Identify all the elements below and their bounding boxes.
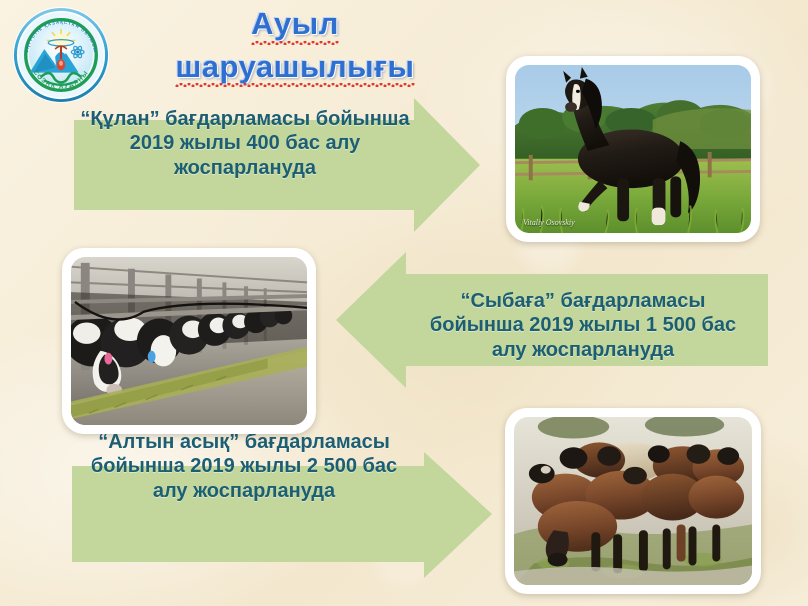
arrow-altyn-asyk-label: “Алтын асық” бағдарламасы бойынша 2019 ж… — [72, 430, 416, 503]
arrow-kulan[interactable]: “Құлан” бағдарламасы бойынша 2019 жылы 4… — [74, 98, 480, 232]
photo-cows-image — [71, 257, 307, 425]
photo-cows[interactable] — [62, 248, 316, 434]
photo-sheep-image — [514, 417, 752, 585]
photo-horse-image: Vitaliy Osovskiy — [515, 65, 751, 233]
photo-horse-watermark: Vitaliy Osovskiy — [523, 218, 575, 227]
sozak-district-emblem-icon: ОҢТҮСТІК ҚАЗАҚСТАН ОБЛЫСЫ СОЗАҚ АУДАНЫ — [12, 6, 110, 104]
slide-title: Ауыл шаруашылығы — [150, 8, 440, 87]
arrow-kulan-label: “Құлан” бағдарламасы бойынша 2019 жылы 4… — [80, 107, 410, 180]
photo-sheep[interactable] — [505, 408, 761, 594]
arrow-sybaga-label: “Сыбаға” бағдарламасы бойынша 2019 жылы … — [414, 289, 752, 362]
slide-canvas: ОҢТҮСТІК ҚАЗАҚСТАН ОБЛЫСЫ СОЗАҚ АУДАНЫ А… — [0, 0, 808, 606]
photo-horse[interactable]: Vitaliy Osovskiy — [506, 56, 760, 242]
arrow-sybaga[interactable]: “Сыбаға” бағдарламасы бойынша 2019 жылы … — [336, 252, 768, 388]
arrow-altyn-asyk[interactable]: “Алтын асық” бағдарламасы бойынша 2019 ж… — [72, 452, 492, 588]
title-line-1: Ауыл — [251, 8, 339, 45]
title-line-2: шаруашылығы — [175, 51, 414, 88]
